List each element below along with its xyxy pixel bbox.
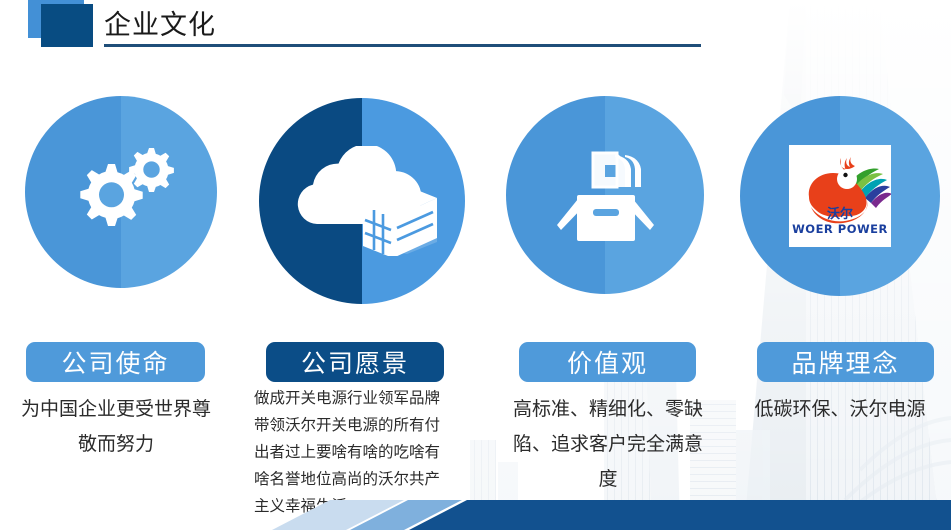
culture-column-brand: 沃尔 WOER POWER <box>725 96 951 296</box>
header-accent-square-dark <box>41 4 93 47</box>
gears-icon <box>25 96 217 288</box>
culture-column-mission <box>6 96 236 288</box>
banner-vision-label: 公司愿景 <box>301 344 409 380</box>
body-text-values: 高标准、精细化、零缺陷、追求客户完全满意度 <box>508 392 708 497</box>
slide-header: 企业文化 <box>0 0 951 70</box>
logo-brand-en: WOER POWER <box>792 222 888 236</box>
footer-stripe-dark <box>409 500 951 530</box>
banner-brand-label: 品牌理念 <box>791 344 899 380</box>
banner-values: 价值观 <box>519 342 696 382</box>
values-circle <box>506 96 704 294</box>
logo-brand-cn: 沃尔 <box>827 206 853 222</box>
brand-circle: 沃尔 WOER POWER <box>740 96 940 296</box>
title-underline-rule <box>104 44 701 47</box>
body-text-brand: 低碳环保、沃尔电源 <box>737 392 943 427</box>
culture-column-vision <box>247 96 477 304</box>
banner-mission-label: 公司使命 <box>61 344 169 380</box>
culture-column-values <box>490 96 720 294</box>
body-text-mission: 为中国企业更受世界尊敬而努力 <box>16 392 216 462</box>
cloud-building-icon <box>259 98 465 304</box>
open-box-documents-icon <box>506 96 704 294</box>
woer-power-logo: 沃尔 WOER POWER <box>789 145 891 247</box>
page-title: 企业文化 <box>104 3 216 42</box>
banner-mission: 公司使命 <box>26 342 205 382</box>
banner-vision: 公司愿景 <box>266 342 444 382</box>
footer-decoration <box>0 490 951 530</box>
vision-circle <box>259 98 465 304</box>
banner-values-label: 价值观 <box>567 344 648 380</box>
banner-brand: 品牌理念 <box>757 342 934 382</box>
mission-circle <box>25 96 217 288</box>
